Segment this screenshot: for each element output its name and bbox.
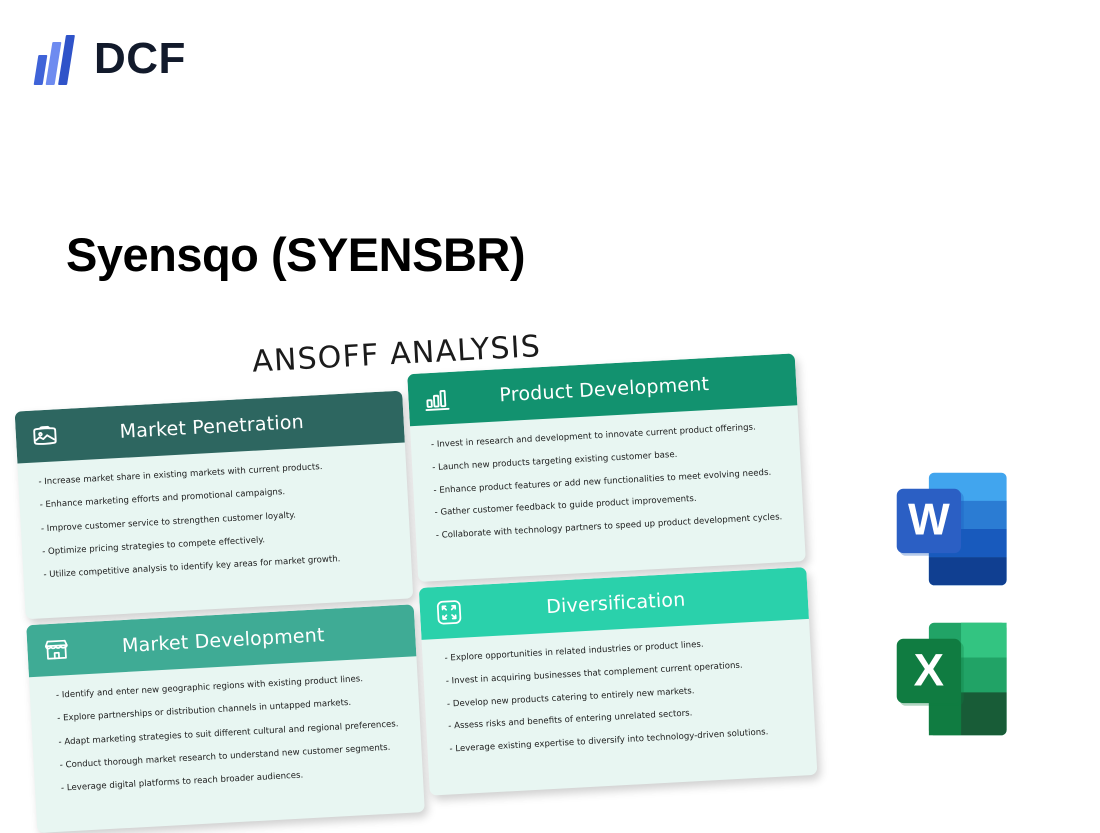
svg-text:W: W — [908, 495, 950, 544]
three-bars-logo-icon — [36, 33, 80, 85]
quadrant-product-development[interactable]: Product Development - Invest in research… — [407, 353, 806, 582]
bullet-item: - Utilize competitive analysis to identi… — [43, 551, 395, 580]
microsoft-word-icon[interactable]: W — [886, 462, 1020, 596]
bullet-item: - Optimize pricing strategies to compete… — [42, 528, 394, 557]
bullet-item: - Identify and enter new geographic regi… — [56, 672, 402, 701]
bullet-item: - Conduct thorough market research to un… — [60, 742, 406, 771]
quadrant-title: Market Penetration — [59, 406, 390, 446]
bullet-item: - Explore partnerships or distribution c… — [57, 695, 403, 724]
quadrant-bullets: - Identify and enter new geographic regi… — [29, 656, 424, 818]
image-photo-icon — [29, 420, 61, 452]
bullet-item: - Adapt marketing strategies to suit dif… — [58, 719, 404, 748]
ansoff-matrix: ANSOFF ANALYSIS Market Penetration - Inc… — [7, 331, 830, 819]
quadrant-bullets: - Increase market share in existing mark… — [17, 443, 412, 605]
quadrant-title: Market Development — [71, 620, 402, 660]
bullet-item: - Increase market share in existing mark… — [38, 458, 390, 487]
brand-logo[interactable]: DCF — [36, 33, 186, 85]
quadrant-market-penetration[interactable]: Market Penetration - Increase market sha… — [15, 391, 414, 620]
quadrant-diversification[interactable]: Diversification - Explore opportunities … — [419, 567, 818, 796]
bullet-item: - Leverage existing expertise to diversi… — [449, 726, 799, 755]
quadrant-bullets: - Explore opportunities in related indus… — [422, 619, 817, 779]
bullet-item: - Enhance marketing efforts and promotio… — [39, 482, 391, 511]
quadrant-title: Product Development — [452, 369, 783, 409]
storefront-shop-icon — [41, 634, 73, 666]
expand-arrows-icon — [433, 597, 465, 629]
bullet-item: - Collaborate with technology partners t… — [436, 512, 788, 541]
svg-text:X: X — [914, 645, 944, 696]
bar-chart-icon — [422, 383, 454, 415]
page-title: Syensqo (SYENSBR) — [66, 227, 525, 282]
quadrant-market-development[interactable]: Market Development - Identify and enter … — [26, 604, 425, 833]
bullet-item: - Leverage digital platforms to reach br… — [61, 765, 407, 794]
brand-logo-text: DCF — [94, 37, 186, 81]
quadrant-bullets: - Invest in research and development to … — [410, 405, 805, 565]
bullet-item: - Improve customer service to strengthen… — [41, 505, 393, 534]
microsoft-excel-icon[interactable]: X — [886, 612, 1020, 746]
quadrant-title: Diversification — [463, 583, 794, 623]
